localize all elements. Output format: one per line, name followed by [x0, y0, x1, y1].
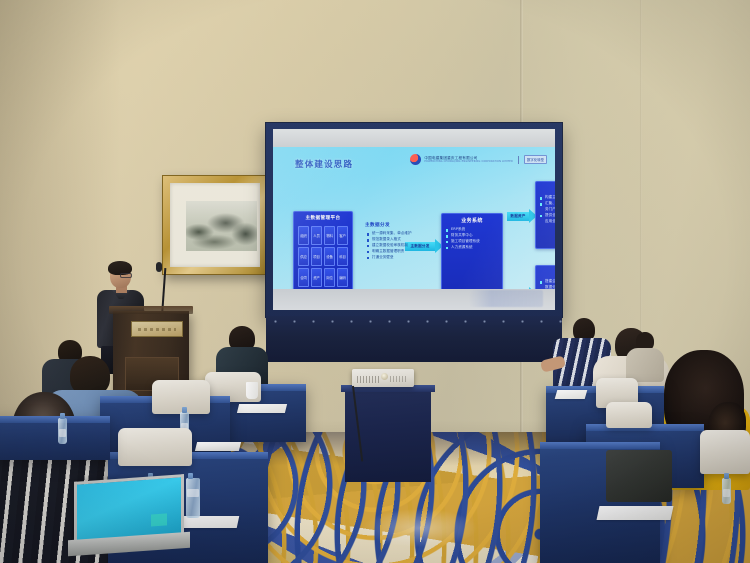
eyeglasses-icon	[120, 273, 132, 278]
master-data-tile: 设备	[324, 247, 335, 266]
screen-watermark	[469, 290, 543, 307]
laptop-screen-content	[151, 513, 167, 526]
master-data-tile: 供应	[298, 247, 309, 266]
lectern-top	[109, 306, 193, 314]
painting-artwork	[186, 201, 257, 251]
business-system-list: ERP系统 财务共享中心 施工项目管理系统 人力资源系统	[442, 227, 502, 251]
paper-cup	[246, 382, 258, 399]
master-data-tile-grid: 组织 人员 物料 客户 供应 项目 设备 科目 合同 资产 岗位 编码 ⚙ ☀	[298, 226, 348, 289]
logo-divider	[518, 156, 519, 164]
conference-room-photo: 整体建设思路 中国电建集团重庆工程有限公司 POWERCHINA CHONGQI…	[0, 0, 750, 563]
box-header-data-analysis: 数据分析平台	[536, 266, 555, 276]
slide-title: 整体建设思路	[295, 158, 353, 170]
screen-blank-top	[273, 129, 555, 147]
projection-screen: 整体建设思路 中国电建集团重庆工程有限公司 POWERCHINA CHONGQI…	[265, 122, 563, 318]
company-logo-mark-icon	[410, 154, 421, 165]
screen-skirt	[266, 316, 562, 362]
projector-vent-left	[357, 376, 381, 383]
framed-landscape-painting	[162, 175, 268, 275]
logo-badge: 数字化转型	[524, 155, 547, 164]
slide-logo: 中国电建集团重庆工程有限公司 POWERCHINA CHONGQING ENGI…	[410, 154, 547, 165]
master-data-tile: 编码	[337, 268, 348, 287]
chair-back	[606, 402, 652, 428]
master-data-tile: 岗位	[324, 268, 335, 287]
projector	[352, 369, 414, 387]
chair-back	[118, 428, 192, 466]
chair-back	[700, 430, 750, 474]
master-data-tile: 物料	[324, 226, 335, 245]
box-header-business-system: 业务系统	[442, 214, 502, 224]
water-bottle	[186, 478, 200, 518]
audience-table	[0, 416, 110, 460]
box-header-data-asset: 数据资产平台	[536, 182, 555, 192]
projected-slide: 整体建设思路 中国电建集团重庆工程有限公司 POWERCHINA CHONGQI…	[273, 147, 555, 289]
projector-lens-icon	[381, 373, 388, 380]
paper-sheet	[237, 404, 287, 413]
paper-sheet	[597, 506, 674, 520]
master-data-tile: 资产	[311, 268, 322, 287]
slide-box-data-analysis-platform: 数据分析平台 搭建企业级数据分析应用场景，支持多维度多口径的自助式、智能化数据分…	[535, 265, 555, 289]
list-item: 搭建企业级数据分析应用场景，支持多维度多口径的自助式、智能化数据分析与可视化展现…	[540, 279, 555, 289]
arrow-data-asset: 数据资产	[507, 209, 537, 223]
box-header-master-data: 主数据管理平台	[294, 212, 352, 221]
table-top-edge	[540, 442, 660, 449]
screen-skirt-grommets	[266, 320, 562, 323]
slide-box-master-data: 主数据管理平台 组织 人员 物料 客户 供应 项目 设备 科目 合同 资产 岗位…	[293, 211, 353, 289]
screen-blank-bottom	[273, 289, 555, 310]
distribution-list: 统一源码采集、单点维护 规范数据录入格式 建立数据校验审核机制 明确主数据管理职…	[363, 231, 425, 261]
list-item: 打通业务壁垒	[367, 255, 422, 261]
master-data-tile: 客户	[337, 226, 348, 245]
audience-torso	[626, 348, 664, 382]
chair-back	[152, 380, 210, 414]
slide-box-distribution-list: 主数据分发 统一源码采集、单点维护 规范数据录入格式 建立数据校验审核机制 明确…	[363, 219, 425, 281]
table-top-edge	[0, 416, 110, 423]
list-item: 汇聚、清洗、整合各类业务数据并进行质量治理，形成统一的数据服务门户，为各业务部门…	[540, 201, 555, 213]
master-data-tile: 人员	[311, 226, 322, 245]
master-data-tile: 科目	[337, 247, 348, 266]
painting-mat	[170, 183, 260, 267]
screen-surface: 整体建设思路 中国电建集团重庆工程有限公司 POWERCHINA CHONGQI…	[273, 129, 555, 310]
projector-vent-right	[390, 376, 408, 382]
bag	[606, 450, 672, 502]
list-item: 人力资源系统	[446, 245, 499, 251]
data-analysis-list: 搭建企业级数据分析应用场景，支持多维度多口径的自助式、智能化数据分析与可视化展现…	[536, 279, 555, 289]
microphone-head-icon	[156, 262, 162, 272]
slide-box-data-asset-platform: 数据资产平台 构建主题数据域、标准化模型，形成企业级数据资产管理体系。 汇聚、清…	[535, 181, 555, 249]
slide-box-business-system: 业务系统 ERP系统 财务共享中心 施工项目管理系统 人力资源系统	[441, 213, 503, 289]
master-data-tile: 合同	[298, 268, 309, 287]
list-item: 提供全域数据资产目录与血缘分析，可视化呈现资产从采集、加工到应用全过程。	[540, 213, 555, 225]
lectern-nameplate	[131, 321, 183, 337]
paper-sheet	[195, 442, 241, 451]
logo-company-name-sub: POWERCHINA CHONGQING ENGINEERING CORPORA…	[424, 160, 513, 163]
master-data-tile: 组织	[298, 226, 309, 245]
box-header-distribution: 主数据分发	[363, 219, 425, 228]
paper-sheet	[555, 390, 588, 399]
audience-member-back-right	[626, 332, 666, 380]
water-bottle	[58, 418, 67, 444]
arrow-label: 数据资产	[507, 212, 529, 221]
data-asset-list: 构建主题数据域、标准化模型，形成企业级数据资产管理体系。 汇聚、清洗、整合各类业…	[536, 195, 555, 225]
water-bottle	[722, 478, 731, 504]
master-data-tile: 项目	[311, 247, 322, 266]
